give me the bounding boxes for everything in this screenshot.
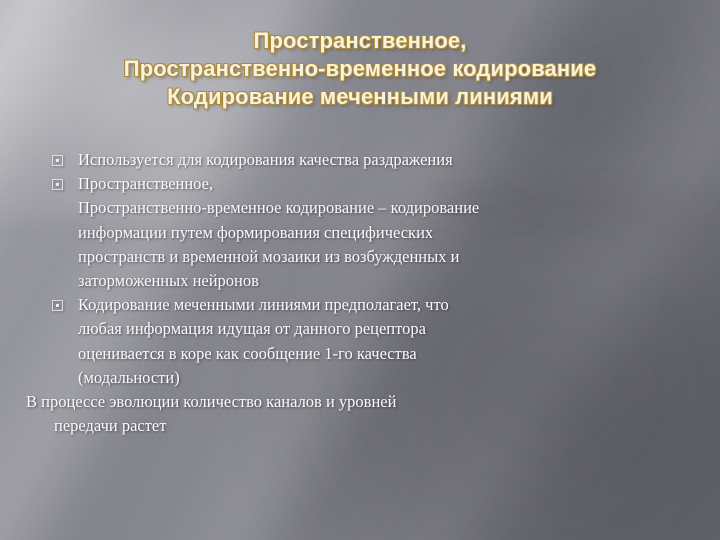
title-line-2: Пространственно-временное кодирование bbox=[16, 55, 704, 83]
presentation-slide: Пространственное, Пространственно-времен… bbox=[0, 0, 720, 540]
bullet-line: Пространственно-временное кодирование – … bbox=[78, 198, 479, 217]
bullet-line: заторможенных нейронов bbox=[78, 271, 259, 290]
bullet-line: Пространственное, bbox=[78, 174, 213, 193]
bullet-line: (модальности) bbox=[78, 368, 180, 387]
bullet-text: Используется для кодирования качества ра… bbox=[78, 148, 694, 172]
square-bullet-icon bbox=[52, 179, 63, 190]
bullet-line: пространств и временной мозаики из возбу… bbox=[78, 247, 459, 266]
closing-paragraph: В процессе эволюции количество каналов и… bbox=[26, 390, 694, 438]
bullet-line: оценивается в коре как сообщение 1-го ка… bbox=[78, 344, 417, 363]
slide-body: Используется для кодирования качества ра… bbox=[52, 148, 694, 438]
closing-paragraph-line-1: В процессе эволюции количество каналов и… bbox=[26, 392, 396, 411]
bullet-text: Пространственное, Пространственно-времен… bbox=[78, 172, 694, 293]
square-bullet-icon bbox=[52, 155, 63, 166]
bullet-item: Пространственное, Пространственно-времен… bbox=[52, 172, 694, 293]
bullet-item: Кодирование меченными линиями предполага… bbox=[52, 293, 694, 390]
slide-title: Пространственное, Пространственно-времен… bbox=[0, 27, 720, 111]
square-bullet-icon bbox=[52, 300, 63, 311]
bullet-line: информации путем формирования специфичес… bbox=[78, 223, 433, 242]
bullet-line: Используется для кодирования качества ра… bbox=[78, 150, 453, 169]
bullet-line: Кодирование меченными линиями предполага… bbox=[78, 295, 449, 314]
closing-paragraph-line-2: передачи растет bbox=[26, 414, 694, 438]
bullet-item: Используется для кодирования качества ра… bbox=[52, 148, 694, 172]
slide-content: Пространственное, Пространственно-времен… bbox=[0, 0, 720, 540]
title-line-1: Пространственное, bbox=[16, 27, 704, 55]
title-line-3: Кодирование меченными линиями bbox=[16, 83, 704, 111]
bullet-line: любая информация идущая от данного рецеп… bbox=[78, 319, 426, 338]
bullet-text: Кодирование меченными линиями предполага… bbox=[78, 293, 694, 390]
